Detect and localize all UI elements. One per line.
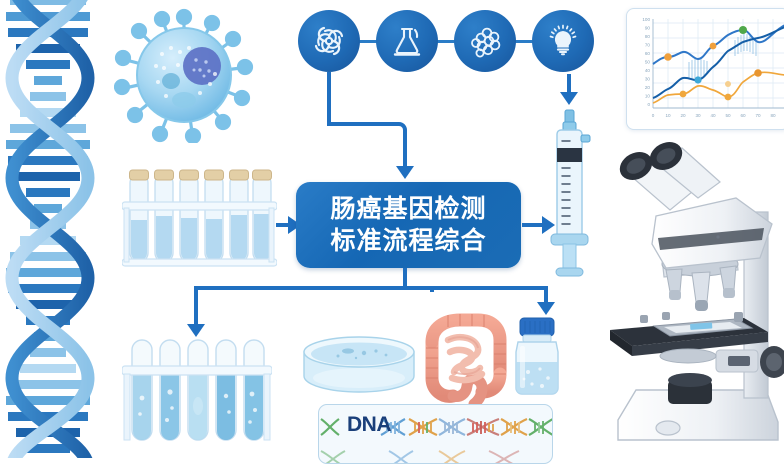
svg-text:80: 80: [770, 113, 776, 118]
test-tube-rack-open-icon: [122, 336, 272, 443]
virus-cell-illustration: [114, 8, 254, 143]
svg-text:70: 70: [645, 43, 651, 48]
test-tube-rack-bottom-illustration: [122, 336, 272, 443]
svg-text:70: 70: [755, 113, 761, 118]
vortex-swirl-icon: [310, 22, 348, 60]
svg-text:60: 60: [740, 113, 746, 118]
center-process-box[interactable]: 肠癌基因检测 标准流程综合: [296, 182, 521, 268]
chart-series-upper-blue: [653, 25, 784, 64]
intestine-organ-icon: [420, 312, 510, 408]
svg-text:30: 30: [695, 113, 701, 118]
center-box-title-line-2: 标准流程综合: [330, 225, 486, 258]
svg-text:0: 0: [647, 102, 650, 107]
lightbulb-icon: [545, 23, 581, 59]
petri-dish-icon: [300, 336, 418, 398]
svg-text:20: 20: [645, 85, 651, 90]
arrow-to-reagent-bottle: [537, 302, 555, 315]
svg-text:20: 20: [680, 113, 686, 118]
svg-text:90: 90: [645, 26, 651, 31]
svg-text:0: 0: [652, 113, 655, 118]
svg-text:40: 40: [710, 113, 716, 118]
arrow-into-center-box-top: [396, 166, 414, 179]
connector-bottom-horizontal: [194, 286, 548, 290]
svg-text:10: 10: [665, 113, 671, 118]
icon-flask[interactable]: [376, 10, 438, 72]
test-tube-rack-corked-icon: [122, 162, 277, 270]
line-chart-card[interactable]: 10090 8070 6050 4030 2010 0 010 2030 405…: [626, 8, 784, 130]
virus-cell-icon: [114, 8, 254, 143]
petri-dish-illustration: [300, 336, 418, 398]
dna-card-label: DNA: [347, 413, 391, 437]
syringe-icon: [544, 92, 600, 277]
svg-text:50: 50: [645, 60, 651, 65]
reagent-bottle-icon: [506, 316, 568, 398]
test-tube-rack-top-illustration: [122, 162, 277, 270]
chart-series-orange: [653, 72, 784, 103]
flask-icon: [389, 23, 425, 59]
microscope-icon: [596, 140, 784, 445]
icon-vortex-swirl[interactable]: [298, 10, 360, 72]
syringe-illustration: [544, 92, 600, 277]
connector-icon-to-box-corner: [327, 122, 407, 146]
intestine-illustration: [420, 312, 510, 408]
svg-text:10: 10: [645, 94, 651, 99]
icon-cell-cluster[interactable]: [454, 10, 516, 72]
svg-text:40: 40: [645, 68, 651, 73]
microscope-illustration: [596, 140, 784, 445]
reagent-bottle-illustration: [506, 316, 568, 398]
dna-double-helix-illustration: [0, 0, 104, 458]
connector-icon-to-box-vertical: [327, 72, 331, 124]
chart-y-tick-labels: 10090 8070 6050 4030 2010 0: [642, 17, 650, 107]
center-box-title-line-1: 肠癌基因检测: [330, 193, 486, 226]
icon-lightbulb[interactable]: [532, 10, 594, 72]
connector-box-top-stem: [403, 140, 407, 168]
connector-box-bottom-stem: [403, 268, 407, 288]
cell-cluster-icon: [467, 23, 503, 59]
connector-branch-center: [430, 286, 434, 292]
connector-branch-left: [194, 286, 198, 326]
line-chart: 10090 8070 6050 4030 2010 0 010 2030 405…: [627, 9, 784, 130]
chart-x-tick-labels: 010 2030 4050 6070 80: [652, 113, 776, 118]
svg-text:60: 60: [645, 51, 651, 56]
svg-text:30: 30: [645, 77, 651, 82]
svg-text:100: 100: [642, 17, 650, 22]
arrow-into-syringe-top: [560, 92, 578, 105]
dna-sequence-card[interactable]: DNA: [318, 404, 553, 464]
connector-box-to-syringe: [522, 223, 544, 227]
svg-text:50: 50: [725, 113, 731, 118]
dna-helix-icon: [0, 0, 104, 458]
svg-text:80: 80: [645, 34, 651, 39]
infographic-canvas: 肠癌基因检测 标准流程综合: [0, 0, 784, 443]
